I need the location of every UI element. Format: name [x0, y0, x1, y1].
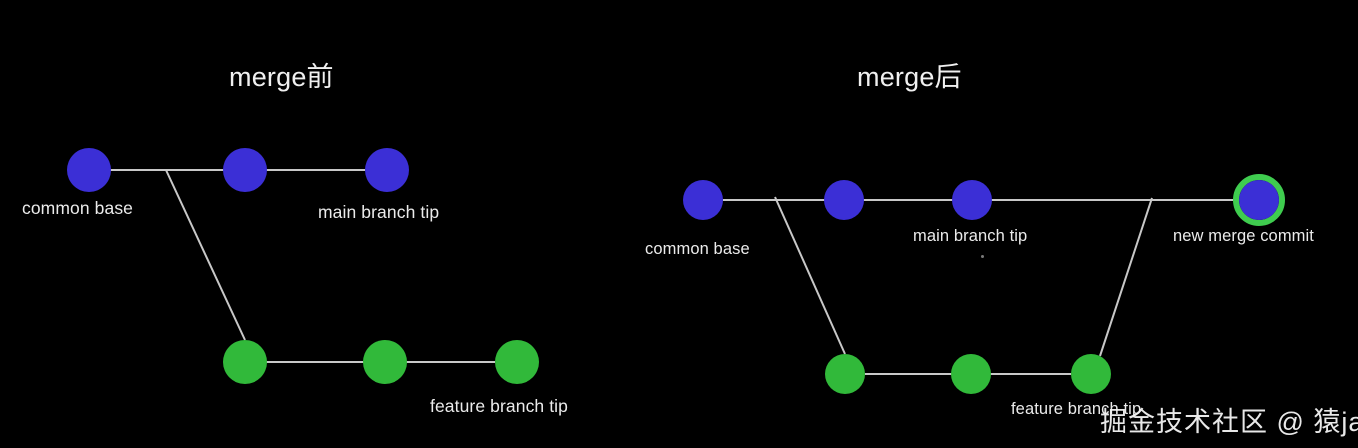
- label-new-merge-commit: new merge commit: [1173, 227, 1314, 246]
- nodes-layer: [67, 148, 1282, 394]
- main-commit-node: [824, 180, 864, 220]
- diagram-canvas: merge前 merge后 common base main branch ti…: [0, 0, 1358, 448]
- main-commit-node: [223, 148, 267, 192]
- panel-title-after-merge: merge后: [857, 55, 962, 94]
- main-commit-node: [683, 180, 723, 220]
- main-commit-node: [67, 148, 111, 192]
- watermark-text: 掘金技术社区 @ 猿java: [1100, 400, 1358, 439]
- feature-commit-node: [363, 340, 407, 384]
- edges-layer: [110, 170, 1239, 374]
- feature-commit-node: [495, 340, 539, 384]
- feature-commit-node: [1071, 354, 1111, 394]
- label-common-base-after: common base: [645, 240, 750, 259]
- feature-commit-node: [223, 340, 267, 384]
- git-merge-diagram-graphics: [0, 0, 1358, 448]
- commit-edge: [1100, 198, 1152, 356]
- panel-title-before-merge: merge前: [229, 55, 334, 94]
- label-feature-branch-tip-before: feature branch tip: [430, 396, 568, 417]
- commit-edge: [166, 170, 245, 340]
- commit-edge: [775, 197, 845, 354]
- merge-commit-node: [1239, 180, 1279, 220]
- label-main-branch-tip-before: main branch tip: [318, 202, 439, 223]
- feature-commit-node: [951, 354, 991, 394]
- feature-commit-node: [825, 354, 865, 394]
- label-main-branch-tip-after: main branch tip: [913, 227, 1027, 246]
- label-common-base-before: common base: [22, 198, 133, 219]
- main-commit-node: [365, 148, 409, 192]
- main-commit-node: [952, 180, 992, 220]
- render-artifact-dot: [981, 255, 984, 258]
